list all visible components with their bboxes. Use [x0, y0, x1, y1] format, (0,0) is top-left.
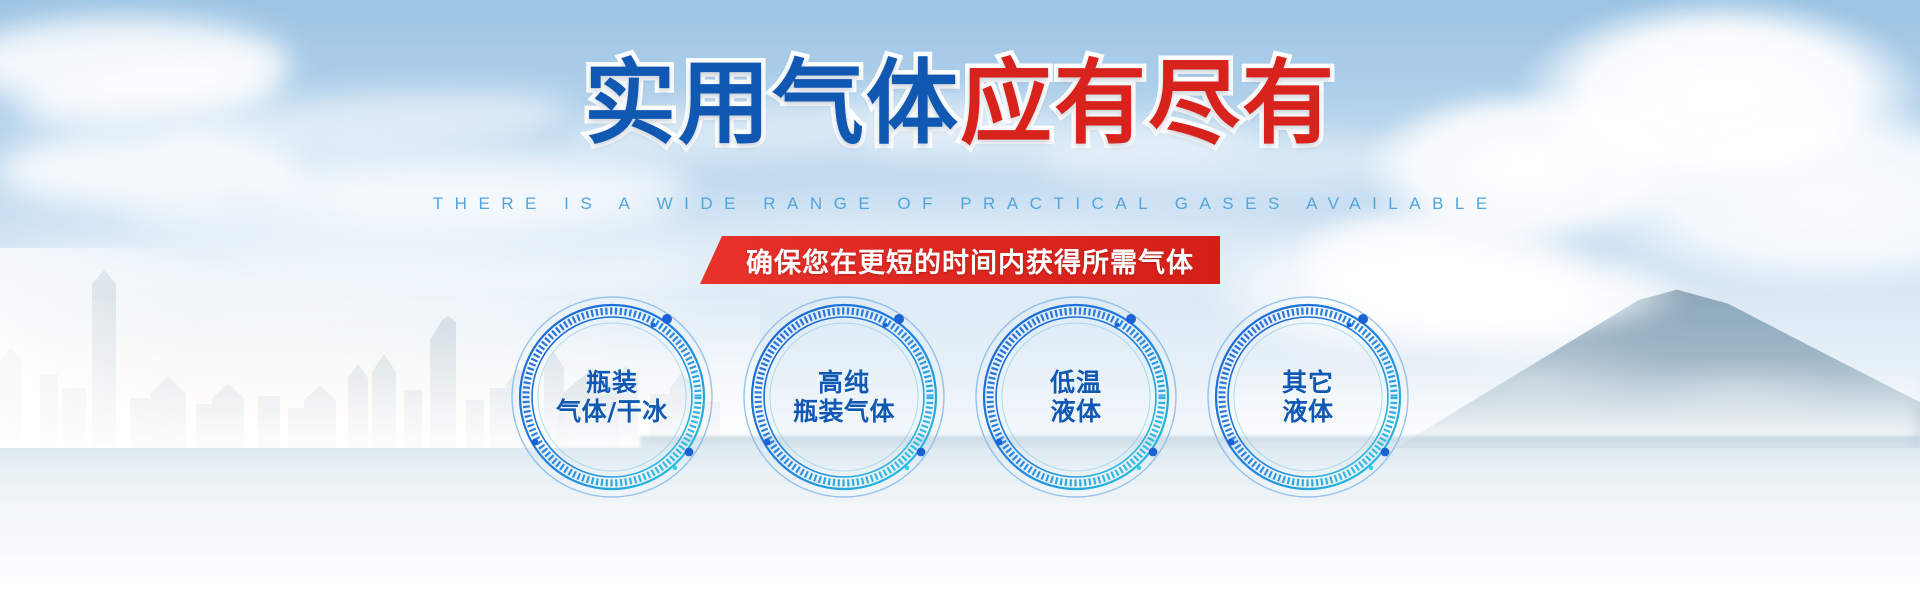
badge-line-1: 低温	[1050, 368, 1102, 398]
badge-label: 瓶装 气体/干冰	[525, 310, 699, 484]
badge-label: 其它 液体	[1221, 310, 1395, 484]
badge-line-2: 气体/干冰	[556, 397, 668, 427]
badge-high-purity-bottled-gas[interactable]: 高纯 瓶装气体	[757, 310, 931, 484]
badge-bottled-gas-dry-ice[interactable]: 瓶装 气体/干冰	[525, 310, 699, 484]
badge-other-liquid[interactable]: 其它 液体	[1221, 310, 1395, 484]
badge-line-1: 高纯	[818, 368, 870, 398]
water-reflection-streak	[0, 555, 1920, 560]
banner-subtitle-english: THERE IS A WIDE RANGE OF PRACTICAL GASES…	[0, 194, 1920, 214]
badge-line-2: 瓶装气体	[793, 397, 895, 427]
headline-blue-part: 实用气体	[584, 50, 960, 157]
badge-label: 高纯 瓶装气体	[757, 310, 931, 484]
badge-line-2: 液体	[1282, 397, 1333, 427]
water-reflection-streak	[0, 531, 1920, 534]
ribbon-container: 确保您在更短的时间内获得所需气体	[0, 236, 1920, 284]
badge-line-1: 其它	[1282, 368, 1334, 398]
badge-line-2: 液体	[1050, 397, 1101, 427]
banner-headline: 实用气体应有尽有	[0, 58, 1920, 150]
badge-label: 低温 液体	[989, 310, 1163, 484]
ribbon-label: 确保您在更短的时间内获得所需气体	[746, 241, 1194, 280]
gas-category-badges: 瓶装 气体/干冰	[0, 310, 1920, 510]
hero-banner: 实用气体应有尽有 THERE IS A WIDE RANGE OF PRACTI…	[0, 0, 1920, 600]
headline-red-part: 应有尽有	[960, 50, 1336, 157]
badge-line-1: 瓶装	[586, 368, 638, 398]
badge-cryogenic-liquid[interactable]: 低温 液体	[989, 310, 1163, 484]
red-ribbon-banner: 确保您在更短的时间内获得所需气体	[700, 236, 1220, 284]
